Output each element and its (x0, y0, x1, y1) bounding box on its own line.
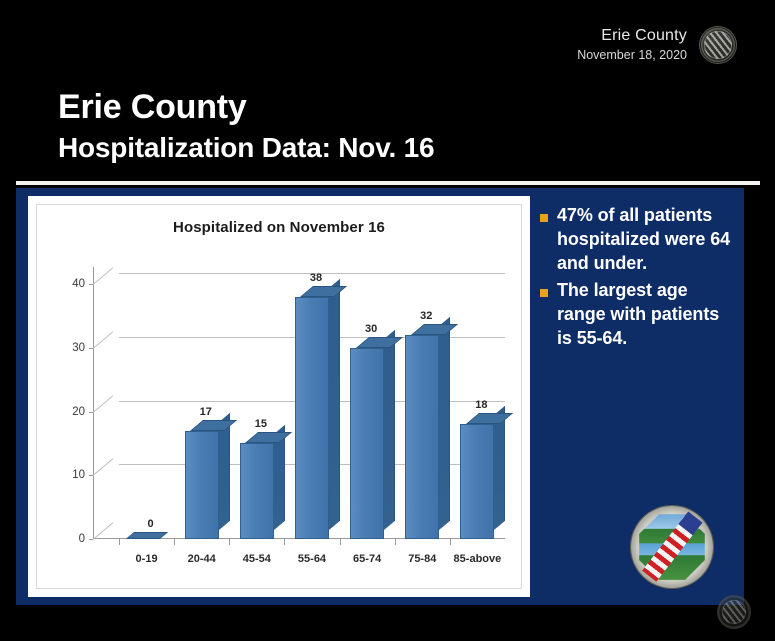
bar-side-face (494, 406, 505, 530)
grid-line-depth (93, 395, 114, 412)
y-axis-tick-mark (89, 475, 93, 476)
bar-value-label: 38 (293, 272, 339, 284)
bar-front-face (350, 348, 384, 539)
bar: 32 (405, 335, 439, 539)
y-axis-tick-label: 0 (79, 533, 85, 545)
bar-value-label: 18 (458, 399, 504, 411)
bar-front-face (240, 443, 274, 539)
y-axis-tick-mark (89, 539, 93, 540)
bar-value-label: 32 (403, 310, 449, 322)
bar-front-face (185, 431, 219, 539)
header-text-block: Erie County November 18, 2020 (577, 27, 687, 63)
grid-line-depth (93, 267, 114, 284)
list-item: The largest age range with patients is 5… (540, 279, 736, 350)
bar: 30 (350, 348, 384, 539)
bar: 17 (185, 431, 219, 539)
header-date-label: November 18, 2020 (577, 48, 687, 63)
bar-column: 85-above18 (450, 267, 505, 539)
y-axis-tick-mark (89, 348, 93, 349)
y-axis-tick-mark (89, 284, 93, 285)
y-axis-tick-label: 10 (72, 469, 85, 481)
bullet-text: The largest age range with patients is 5… (557, 279, 736, 350)
bar-column: 0-190 (119, 267, 174, 539)
bar-side-face (384, 330, 395, 530)
slide-header: Erie County November 18, 2020 (577, 26, 737, 64)
chart-area: Hospitalized on November 16 010203040 0-… (36, 204, 522, 589)
x-axis-tick-mark (174, 539, 175, 545)
bullet-text: 47% of all patients hospitalized were 64… (557, 204, 736, 275)
bullet-list: 47% of all patients hospitalized were 64… (540, 204, 736, 355)
grid-line-depth (93, 331, 114, 348)
bar-front-face (295, 297, 329, 539)
erie-county-seal-icon (631, 506, 713, 588)
page-title: Erie County Hospitalization Data: Nov. 1… (58, 90, 434, 162)
x-axis-tick-label: 85-above (454, 553, 502, 565)
y-axis-tick-mark (89, 412, 93, 413)
page-title-line1: Erie County (58, 90, 434, 124)
y-axis-tick-label: 40 (72, 278, 85, 290)
list-item: 47% of all patients hospitalized were 64… (540, 204, 736, 275)
x-axis-tick-mark (119, 539, 120, 545)
page-title-line2: Hospitalization Data: Nov. 16 (58, 134, 434, 162)
bar-value-label: 17 (183, 406, 229, 418)
x-axis-tick-label: 45-54 (243, 553, 271, 565)
x-axis-tick-mark (340, 539, 341, 545)
bar-column: 45-5415 (229, 267, 284, 539)
bar-column: 55-6438 (284, 267, 339, 539)
erie-county-seal-watermark-icon (717, 595, 751, 629)
x-axis-tick-label: 20-44 (188, 553, 216, 565)
chart-plot-region: 010203040 0-19020-441745-541555-643865-7… (93, 267, 505, 539)
bar: 18 (460, 424, 494, 539)
erie-county-seal-icon (699, 26, 737, 64)
bar: 15 (240, 443, 274, 539)
bar-value-label: 30 (348, 323, 394, 335)
bar: 38 (295, 297, 329, 539)
x-axis-tick-mark (284, 539, 285, 545)
bar-column: 65-7430 (340, 267, 395, 539)
bar-front-face (460, 424, 494, 539)
x-axis-tick-label: 55-64 (298, 553, 326, 565)
square-bullet-icon (540, 214, 548, 222)
bar-value-label: 0 (128, 518, 174, 530)
header-org-label: Erie County (577, 27, 687, 46)
bar: 0 (130, 532, 164, 539)
chart-card: Hospitalized on November 16 010203040 0-… (28, 196, 530, 597)
title-divider (16, 181, 760, 185)
bar-front-face (405, 335, 439, 539)
x-axis-tick-label: 65-74 (353, 553, 381, 565)
x-axis-tick-label: 75-84 (408, 553, 436, 565)
bar-column: 75-8432 (395, 267, 450, 539)
bar-side-face (329, 279, 340, 530)
bar-top-face (466, 413, 513, 424)
content-panel: Hospitalized on November 16 010203040 0-… (16, 188, 744, 605)
bar-column: 20-4417 (174, 267, 229, 539)
square-bullet-icon (540, 289, 548, 297)
grid-line-depth (93, 459, 114, 476)
bar-series: 0-19020-441745-541555-643865-743075-8432… (119, 267, 505, 539)
y-axis-tick-label: 30 (72, 342, 85, 354)
chart-title: Hospitalized on November 16 (37, 219, 521, 236)
x-axis-tick-mark (229, 539, 230, 545)
y-axis-line (93, 267, 94, 539)
x-axis-tick-mark (450, 539, 451, 545)
bar-side-face (439, 317, 450, 530)
bar-zero-tile (125, 532, 167, 539)
bar-value-label: 15 (238, 418, 284, 430)
x-axis-tick-mark (395, 539, 396, 545)
y-axis-tick-label: 20 (72, 406, 85, 418)
x-axis-tick-label: 0-19 (136, 553, 158, 565)
